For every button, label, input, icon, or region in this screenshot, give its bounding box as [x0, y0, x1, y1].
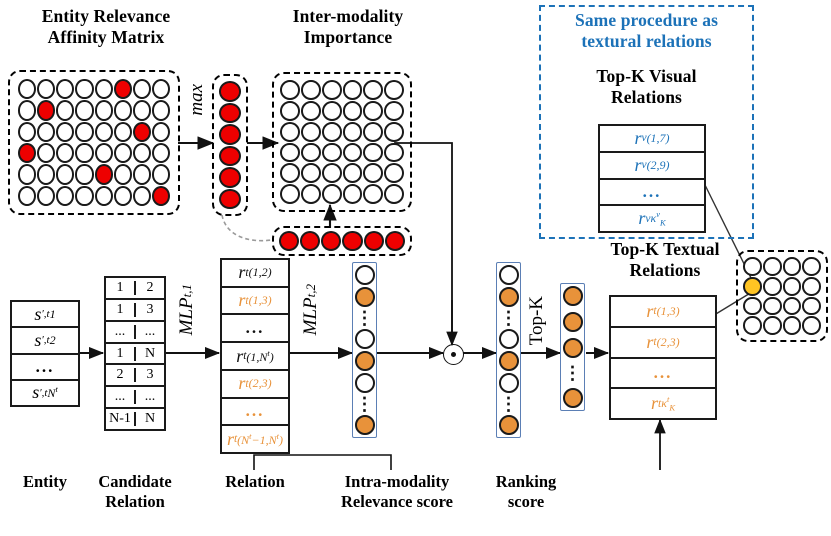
candidate-relation-row: ...... [106, 387, 164, 409]
max-vector-cell [219, 189, 241, 210]
mlp-t1-sub: t,1 [179, 284, 194, 297]
affinity-matrix-cell [133, 143, 151, 163]
affinity-matrix-cell [37, 186, 55, 206]
candidate-relation-cell-left: 2 [106, 368, 136, 382]
max-vector-cell [219, 103, 241, 124]
entity-table-row: s′,t1 [12, 302, 78, 328]
bottom-label-intra-modality-line1: Intra-modality [312, 472, 482, 492]
max-vector-cell [219, 167, 241, 188]
affinity-matrix-cell [18, 79, 36, 99]
bottom-label-ranking-line1: Ranking [478, 472, 574, 492]
mlp-t2-sub: t,2 [303, 284, 318, 297]
candidate-relation-cell-right: 2 [136, 281, 164, 295]
affinity-matrix-cell [133, 164, 151, 184]
bottom-label-ranking-line2: score [478, 492, 574, 512]
max-operator-label: max [186, 84, 208, 116]
candidate-relation-row: 12 [106, 278, 164, 300]
topk-orange-node [563, 338, 583, 358]
max-vector-cell [219, 81, 241, 102]
horizontal-vector-cell [342, 231, 362, 251]
topk-column: ⋮ [560, 283, 585, 411]
bottom-label-entity: Entity [2, 472, 88, 492]
relation-table-row: rt(Nt−1,Nt) [222, 426, 288, 452]
topk-operator-label: Top-K [526, 296, 548, 345]
entity-table-row: ... [12, 355, 78, 381]
bottom-label-entity-line1: Entity [2, 472, 88, 492]
affinity-matrix-cell [18, 122, 36, 142]
bottom-label-ranking: Ranking score [478, 472, 574, 513]
affinity-matrix-cell [75, 122, 93, 142]
bottom-label-intra-modality: Intra-modality Relevance score [312, 472, 482, 513]
relation-table-row: ... [222, 399, 288, 427]
candidate-relation-row: 23 [106, 365, 164, 387]
topk-textual-title: Top-K Textual Relations [590, 239, 740, 282]
candidate-relation-row: 1N [106, 344, 164, 366]
importance-matrix-cell [280, 184, 300, 204]
blue-note: Same procedure as textural relations [539, 10, 754, 53]
candidate-relation-cell-right: N [136, 412, 164, 426]
importance-matrix-cell [343, 122, 363, 142]
topk-visual-table: rv(1,7)rv(2,9)...rvκvK [598, 124, 706, 233]
affinity-matrix-cell [114, 100, 132, 120]
ranking-orange-node [499, 415, 519, 435]
affinity-matrix-highlighted-cell [152, 186, 170, 206]
visual-entity-cell [763, 257, 782, 276]
candidate-relation-cell-left: N-1 [106, 412, 136, 426]
topk-visual-title-line2: Relations [539, 87, 754, 108]
affinity-matrix-cell [95, 122, 113, 142]
affinity-matrix-highlighted-cell [37, 100, 55, 120]
horizontal-importance-vector [272, 226, 412, 256]
topk-visual-row-row: rvκvK [600, 206, 704, 231]
topk-textual-title-line2: Relations [590, 260, 740, 281]
affinity-matrix-title-line2: Affinity Matrix [6, 27, 206, 48]
affinity-matrix-highlighted-cell [114, 79, 132, 99]
visual-entity-cell [743, 316, 762, 335]
affinity-matrix-cell [133, 79, 151, 99]
affinity-matrix-cell [75, 100, 93, 120]
bottom-label-relation-line1: Relation [205, 472, 305, 492]
importance-title-line2: Importance [258, 27, 438, 48]
affinity-matrix-cell [114, 143, 132, 163]
candidate-relation-cell-right: 3 [136, 303, 164, 317]
relation-table-row: rt(1,Nt) [222, 343, 288, 371]
affinity-matrix-cell [95, 186, 113, 206]
intra-modality-white-node [355, 265, 375, 285]
affinity-matrix-cell [95, 79, 113, 99]
visual-entity-cell [802, 297, 821, 316]
visual-entity-cell [783, 257, 802, 276]
importance-matrix-cell [343, 184, 363, 204]
affinity-matrix-cell [152, 79, 170, 99]
ranking-column: ⋮⋮ [496, 262, 521, 438]
hadamard-operator [443, 344, 462, 363]
importance-matrix-cell [280, 101, 300, 121]
topk-orange-node [563, 388, 583, 408]
importance-title-line1: Inter-modality [258, 6, 438, 27]
affinity-matrix-cell [133, 100, 151, 120]
importance-matrix-cell [322, 143, 342, 163]
affinity-matrix-highlighted-cell [18, 143, 36, 163]
intra-modality-column: ⋮⋮ [352, 262, 377, 438]
ranking-ellipsis: ⋮ [500, 309, 518, 327]
importance-matrix-cell [343, 80, 363, 100]
importance-matrix-cell [322, 184, 342, 204]
bottom-label-candidate-relation-line2: Relation [80, 492, 190, 512]
affinity-matrix-cell [95, 143, 113, 163]
affinity-matrix-cell [56, 122, 74, 142]
affinity-matrix-cell [152, 164, 170, 184]
importance-matrix-cell [384, 122, 404, 142]
entity-table-row: s′,t2 [12, 328, 78, 354]
importance-matrix-cell [384, 143, 404, 163]
affinity-matrix-cell [114, 164, 132, 184]
relation-table-row: rt(1,3) [222, 288, 288, 316]
importance-matrix-cell [280, 80, 300, 100]
affinity-matrix-cell [75, 186, 93, 206]
affinity-matrix [8, 70, 180, 215]
relation-table-row: rt(2,3) [222, 371, 288, 399]
max-vector-cell [219, 124, 241, 145]
candidate-relation-cell-left: 1 [106, 281, 136, 295]
ranking-white-node [499, 373, 519, 393]
entity-table: s′,t1s′,t2...s′,tNt [10, 300, 80, 407]
topk-textual-row-row: rt(2,3) [611, 328, 715, 359]
intra-modality-orange-node [355, 351, 375, 371]
entity-table-row: s′,tNt [12, 381, 78, 405]
importance-matrix-cell [301, 101, 321, 121]
visual-entity-cell [802, 277, 821, 296]
affinity-matrix-cell [152, 143, 170, 163]
affinity-matrix-cell [18, 186, 36, 206]
importance-matrix-cell [384, 80, 404, 100]
importance-matrix-cell [384, 101, 404, 121]
blue-note-line1: Same procedure as [539, 10, 754, 31]
ranking-ellipsis: ⋮ [500, 395, 518, 413]
affinity-matrix-cell [75, 143, 93, 163]
importance-matrix-cell [343, 163, 363, 183]
importance-matrix-cell [384, 184, 404, 204]
candidate-relation-cell-left: 1 [106, 347, 136, 361]
affinity-matrix-cell [56, 164, 74, 184]
topk-visual-row-row: rv(2,9) [600, 153, 704, 180]
intra-modality-white-node [355, 373, 375, 393]
importance-matrix-cell [384, 163, 404, 183]
topk-orange-node [563, 286, 583, 306]
candidate-relation-table: 1213......1N23......N-1N [104, 276, 166, 431]
importance-matrix-cell [301, 143, 321, 163]
importance-matrix [272, 72, 412, 212]
candidate-relation-cell-left: ... [106, 325, 136, 339]
topk-visual-row-row: rv(1,7) [600, 126, 704, 153]
intra-modality-ellipsis: ⋮ [356, 395, 374, 413]
mlp-t2-label: MLPt,2 [300, 284, 322, 335]
bottom-label-candidate-relation: Candidate Relation [80, 472, 190, 513]
mlp-t1-text: MLP [176, 297, 197, 335]
topk-orange-node [563, 312, 583, 332]
affinity-matrix-cell [56, 100, 74, 120]
affinity-matrix-cell [37, 164, 55, 184]
topk-visual-title: Top-K Visual Relations [539, 66, 754, 109]
affinity-matrix-cell [37, 79, 55, 99]
mlp-t1-label: MLPt,1 [176, 284, 198, 335]
importance-matrix-cell [343, 143, 363, 163]
affinity-matrix-cell [37, 143, 55, 163]
importance-matrix-cell [363, 184, 383, 204]
ranking-white-node [499, 265, 519, 285]
affinity-matrix-cell [37, 122, 55, 142]
horizontal-vector-cell [279, 231, 299, 251]
affinity-matrix-cell [95, 100, 113, 120]
ranking-orange-node [499, 351, 519, 371]
intra-modality-orange-node [355, 415, 375, 435]
affinity-matrix-cell [56, 143, 74, 163]
affinity-matrix-cell [56, 79, 74, 99]
visual-entity-cell [763, 277, 782, 296]
visual-entity-cell [783, 277, 802, 296]
affinity-matrix-cell [114, 186, 132, 206]
affinity-matrix-cell [152, 122, 170, 142]
importance-matrix-cell [322, 122, 342, 142]
candidate-relation-cell-right: ... [136, 325, 164, 339]
ranking-white-node [499, 329, 519, 349]
visual-entity-cell [783, 297, 802, 316]
importance-matrix-cell [322, 101, 342, 121]
max-vector [212, 74, 248, 216]
topk-textual-table: rt(1,3)rt(2,3)...rtκtK [609, 295, 717, 420]
relation-table: rt(1,2)rt(1,3)...rt(1,Nt)rt(2,3)...rt(Nt… [220, 258, 290, 454]
topk-visual-row-row: ... [600, 180, 704, 207]
candidate-relation-row: N-1N [106, 409, 164, 429]
importance-matrix-cell [322, 80, 342, 100]
candidate-relation-cell-right: 3 [136, 368, 164, 382]
affinity-matrix-cell [75, 164, 93, 184]
visual-entity-cell [743, 297, 762, 316]
affinity-matrix-highlighted-cell [133, 122, 151, 142]
visual-entity-grid [736, 250, 828, 342]
importance-matrix-cell [363, 143, 383, 163]
ranking-orange-node [499, 287, 519, 307]
affinity-matrix-cell [18, 100, 36, 120]
visual-entity-cell [783, 316, 802, 335]
horizontal-vector-cell [300, 231, 320, 251]
candidate-relation-cell-right: ... [136, 390, 164, 404]
affinity-matrix-title: Entity Relevance Affinity Matrix [6, 6, 206, 49]
affinity-matrix-highlighted-cell [95, 164, 113, 184]
affinity-matrix-title-line1: Entity Relevance [6, 6, 206, 27]
intra-modality-white-node [355, 329, 375, 349]
topk-visual-title-line1: Top-K Visual [539, 66, 754, 87]
bottom-label-intra-modality-line2: Relevance score [312, 492, 482, 512]
candidate-relation-cell-right: N [136, 347, 164, 361]
importance-matrix-cell [322, 163, 342, 183]
topk-textual-title-line1: Top-K Textual [590, 239, 740, 260]
affinity-matrix-cell [152, 100, 170, 120]
importance-matrix-cell [301, 184, 321, 204]
candidate-relation-cell-left: 1 [106, 303, 136, 317]
max-vector-cell [219, 146, 241, 167]
intra-modality-ellipsis: ⋮ [356, 309, 374, 327]
topk-textual-row-row: ... [611, 359, 715, 390]
candidate-relation-cell-left: ... [106, 390, 136, 404]
visual-entity-cell [802, 257, 821, 276]
importance-matrix-cell [301, 163, 321, 183]
affinity-matrix-cell [56, 186, 74, 206]
importance-matrix-cell [280, 122, 300, 142]
topk-ellipsis: ⋮ [564, 364, 582, 382]
importance-title: Inter-modality Importance [258, 6, 438, 49]
bottom-label-relation: Relation [205, 472, 305, 492]
visual-entity-highlighted-cell [743, 277, 762, 296]
horizontal-vector-cell [385, 231, 405, 251]
visual-entity-cell [743, 257, 762, 276]
intra-modality-orange-node [355, 287, 375, 307]
importance-matrix-cell [363, 80, 383, 100]
affinity-matrix-cell [75, 79, 93, 99]
importance-matrix-cell [363, 122, 383, 142]
affinity-matrix-cell [133, 186, 151, 206]
importance-matrix-cell [301, 122, 321, 142]
relation-table-row: ... [222, 315, 288, 343]
bottom-label-candidate-relation-line1: Candidate [80, 472, 190, 492]
affinity-matrix-cell [18, 164, 36, 184]
importance-matrix-cell [343, 101, 363, 121]
topk-textual-row-row: rtκtK [611, 389, 715, 418]
candidate-relation-row: ...... [106, 322, 164, 344]
importance-matrix-cell [280, 163, 300, 183]
importance-matrix-cell [280, 143, 300, 163]
topk-textual-row-row: rt(1,3) [611, 297, 715, 328]
relation-table-row: rt(1,2) [222, 260, 288, 288]
visual-entity-cell [802, 316, 821, 335]
importance-matrix-cell [363, 163, 383, 183]
horizontal-vector-cell [321, 231, 341, 251]
importance-matrix-cell [363, 101, 383, 121]
candidate-relation-row: 13 [106, 300, 164, 322]
horizontal-vector-cell [364, 231, 384, 251]
mlp-t2-text: MLP [300, 297, 321, 335]
blue-note-line2: textural relations [539, 31, 754, 52]
importance-matrix-cell [301, 80, 321, 100]
affinity-matrix-cell [114, 122, 132, 142]
visual-entity-cell [763, 297, 782, 316]
visual-entity-cell [763, 316, 782, 335]
